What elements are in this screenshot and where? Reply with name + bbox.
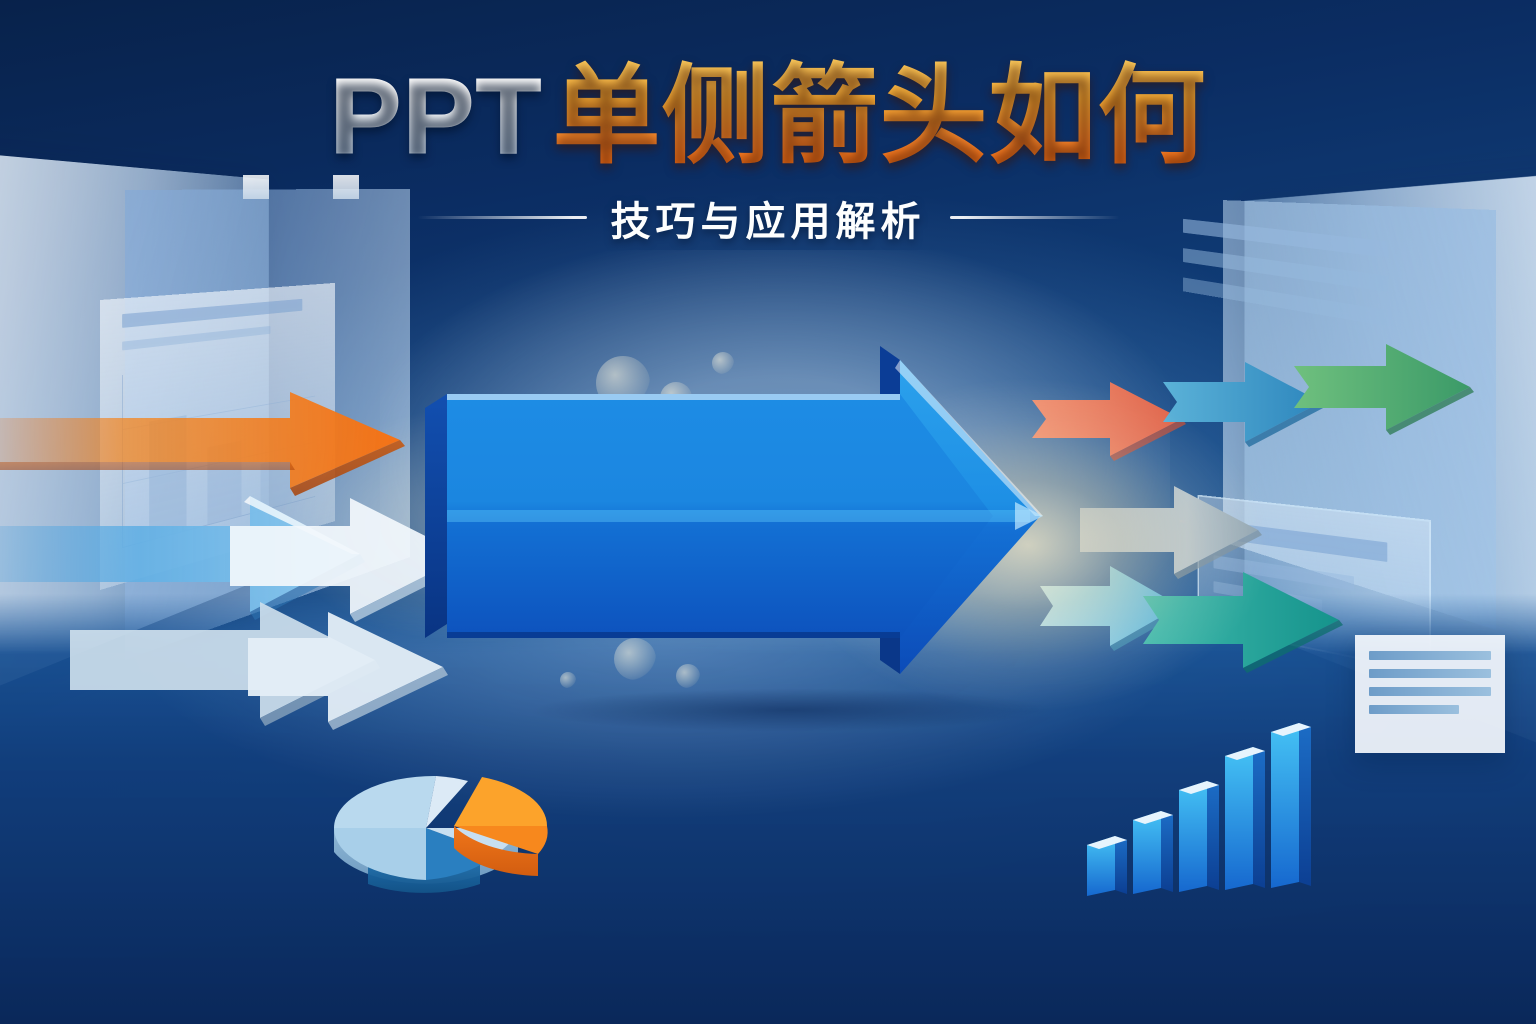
subtitle-text: 技巧与应用解析 (611, 189, 926, 247)
subtitle-row: 技巧与应用解析 (0, 189, 1536, 247)
doc-line (1369, 705, 1459, 714)
doc-line (1369, 669, 1491, 678)
orange-arrow (0, 392, 410, 502)
divider-left (417, 216, 587, 219)
hero-arrow-shadow (415, 680, 1164, 740)
title-main-cn: 单侧箭头如何 (553, 55, 1207, 176)
title-prefix-en: PPT (329, 55, 552, 176)
pie-chart (328, 748, 578, 898)
doc-line (1369, 651, 1491, 660)
main-title: PPT单侧箭头如何 (0, 58, 1536, 175)
document-card (1355, 635, 1505, 753)
panel-title-bar (122, 299, 302, 328)
divider-right (950, 216, 1120, 219)
panel-subtitle-bar (122, 326, 270, 351)
hero-arrow (425, 338, 1085, 688)
bar-chart (1085, 650, 1365, 900)
green-arrow (1294, 340, 1484, 450)
doc-line (1369, 687, 1491, 696)
banner-canvas: PPT单侧箭头如何 技巧与应用解析 (0, 0, 1536, 1024)
title-block: PPT单侧箭头如何 技巧与应用解析 (0, 58, 1536, 247)
